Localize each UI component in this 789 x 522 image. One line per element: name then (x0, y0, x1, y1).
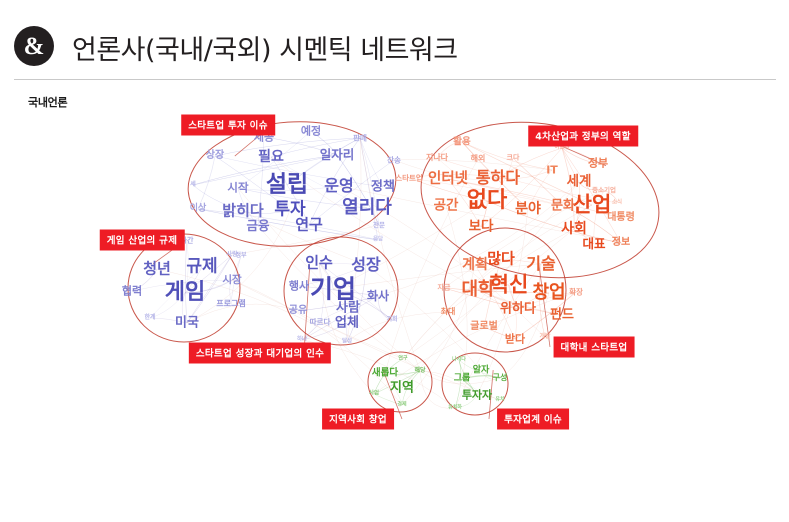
cluster-callout-startup-investment[interactable]: 스타트업 투자 이슈 (181, 115, 275, 136)
ampersand-logo-icon: & (14, 26, 54, 66)
cluster-callout-startup-growth-acquisition[interactable]: 스타트업 성장과 대기업의 인수 (189, 343, 331, 364)
slide-header: & 언론사(국내/국외) 시멘틱 네트워크 (0, 0, 789, 82)
cluster-outline (442, 353, 508, 415)
slide-root: & 언론사(국내/국외) 시멘틱 네트워크 국내언론 설립열리다투자밝히다운영필… (0, 0, 789, 522)
header-divider (14, 79, 776, 80)
cluster-outline (184, 115, 400, 253)
cluster-callout-campus-startup[interactable]: 대학내 스타트업 (554, 337, 635, 358)
cluster-callout-investment-industry-issue[interactable]: 투자업계 이슈 (497, 409, 569, 430)
cluster-callout-local-community-startup[interactable]: 지역사회 창업 (322, 409, 394, 430)
cluster-callout-fourth-industry-government[interactable]: 4차산업과 정부의 역할 (528, 126, 638, 147)
semantic-network-chart: 설립열리다투자밝히다운영필요일자리연구금융시작정책제공예정상장판매잔송이상세전문… (0, 108, 789, 438)
cluster-callout-game-industry-regulation[interactable]: 게임 산업의 규제 (100, 230, 185, 251)
network-edges-and-hulls (0, 108, 789, 438)
page-title: 언론사(국내/국외) 시멘틱 네트워크 (72, 28, 458, 67)
cluster-outline (444, 228, 566, 352)
